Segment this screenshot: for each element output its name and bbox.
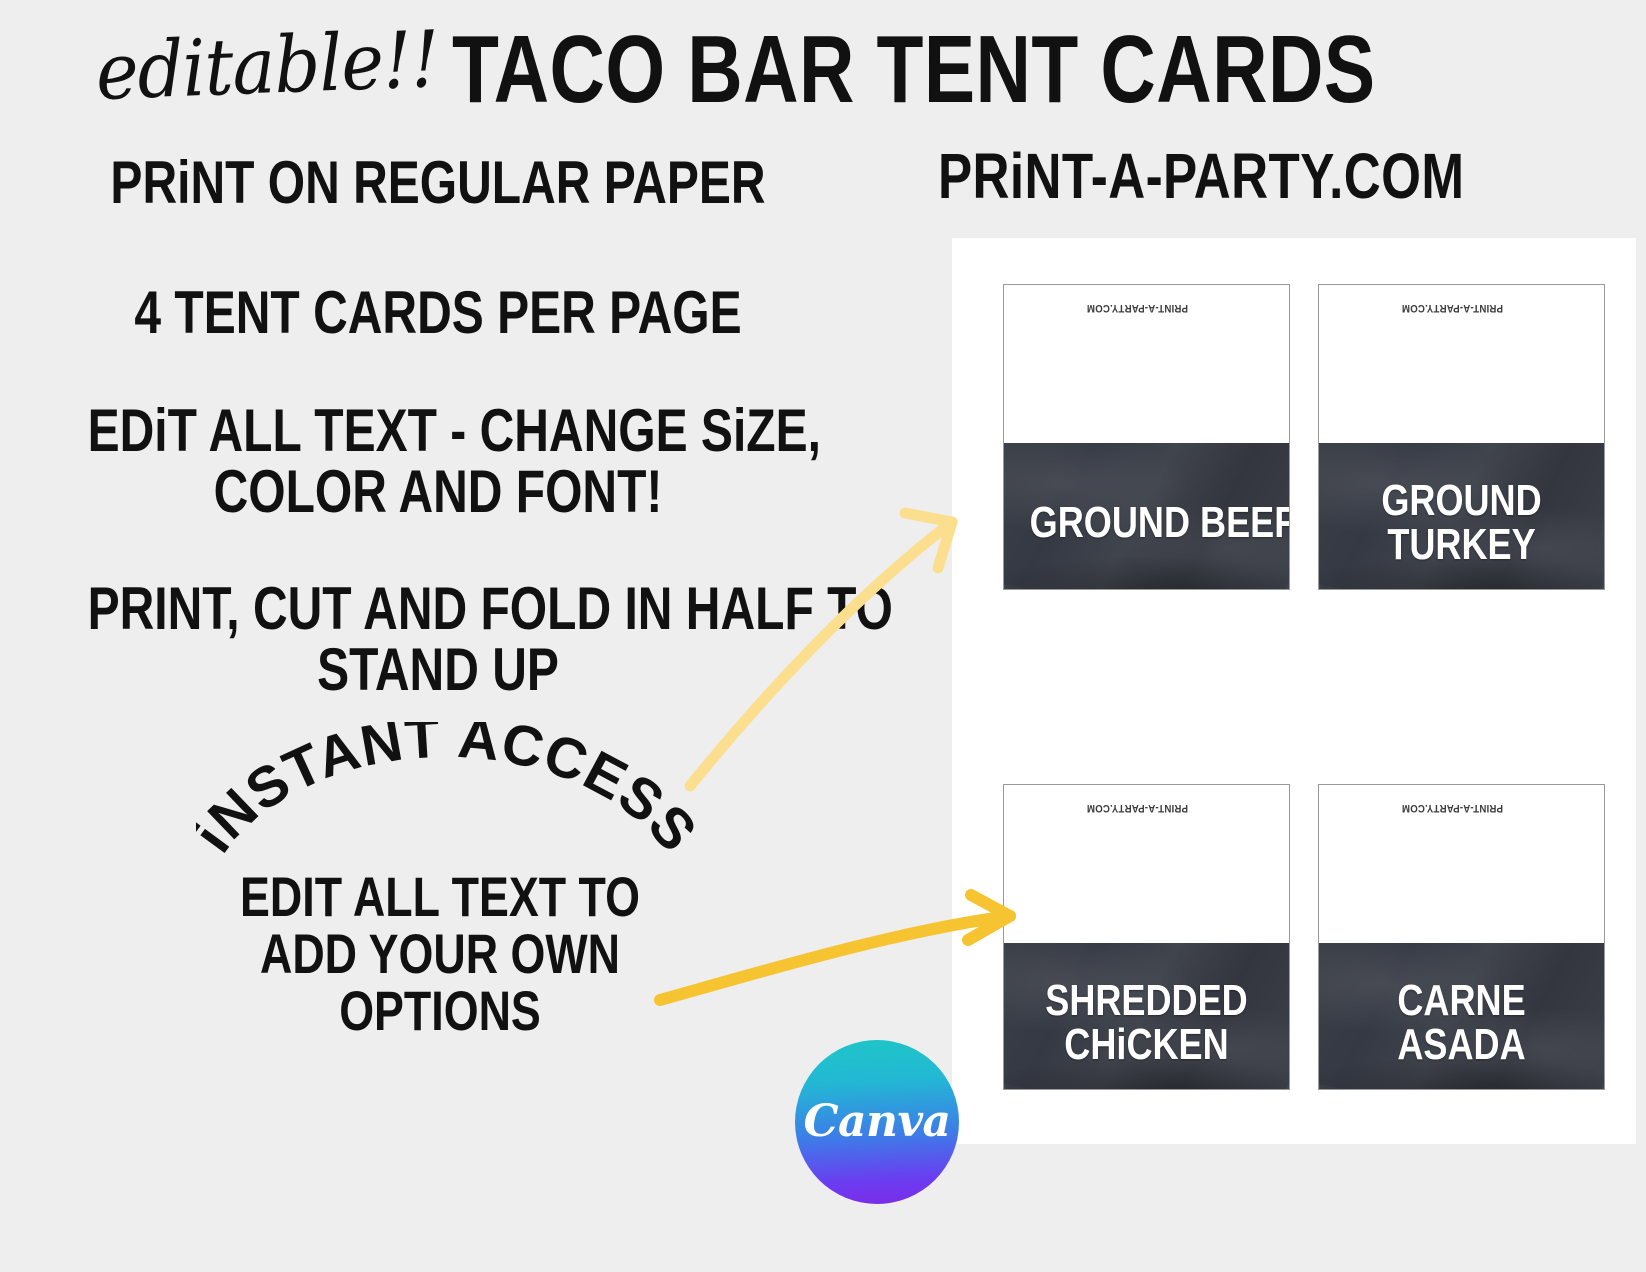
tent-card-ground-beef: PRINT-A-PARTY.COM GROUND BEEF [1003,284,1290,590]
poster-canvas: editable!! TACO BAR TENT CARDS PRiNT-A-P… [0,0,1646,1272]
card-label-ground-turkey: GROUND TURKEY [1345,479,1579,567]
feature-print-on-regular-paper: PRiNT ON REGULAR PAPER [88,152,789,213]
subtext-line2: ADD YOUR OWN [200,925,680,982]
card-label-shredded-chicken: SHREDDED CHiCKEN [1030,979,1264,1067]
feature-print-cut-fold-line2: STAND UP [88,639,789,700]
card-chalkboard-half: CARNE ASADA [1319,943,1604,1089]
card-watermark: PRINT-A-PARTY.COM [1020,799,1190,815]
card-fold-top-half: PRINT-A-PARTY.COM [1004,785,1289,943]
card-watermark: PRINT-A-PARTY.COM [1020,299,1190,315]
feature-edit-all-text-line1: EDiT ALL TEXT - CHANGE SiZE, [88,400,789,461]
editable-tag: editable!! [95,15,440,118]
feature-cards-per-page: 4 TENT CARDS PER PAGE [88,282,789,343]
card-label-ground-beef: GROUND BEEF [1030,501,1264,545]
feature-print-cut-fold: PRINT, CUT AND FOLD IN HALF TO STAND UP [88,578,789,700]
card-fold-top-half: PRINT-A-PARTY.COM [1004,285,1289,443]
feature-print-cut-fold-line1: PRINT, CUT AND FOLD IN HALF TO [88,578,789,639]
card-label-carne-asada: CARNE ASADA [1345,979,1579,1067]
website-url: PRiNT-A-PARTY.COM [938,144,1464,208]
subtext-line3: OPTIONS [200,982,680,1039]
card-chalkboard-half: GROUND TURKEY [1319,443,1604,589]
card-chalkboard-half: GROUND BEEF [1004,443,1289,589]
card-watermark: PRINT-A-PARTY.COM [1335,299,1505,315]
tent-card-shredded-chicken: PRINT-A-PARTY.COM SHREDDED CHiCKEN [1003,784,1290,1090]
card-fold-top-half: PRINT-A-PARTY.COM [1319,785,1604,943]
card-watermark: PRINT-A-PARTY.COM [1335,799,1505,815]
feature-edit-all-text-line2: COLOR AND FONT! [88,461,789,522]
feature-add-your-own-options: EDIT ALL TEXT TO ADD YOUR OWN OPTIONS [200,868,680,1039]
curved-text-content: iNSTANT ACCESS [196,722,696,864]
tent-card-ground-turkey: PRINT-A-PARTY.COM GROUND TURKEY [1318,284,1605,590]
card-fold-top-half: PRINT-A-PARTY.COM [1319,285,1604,443]
tent-card-carne-asada: PRINT-A-PARTY.COM CARNE ASADA [1318,784,1605,1090]
subtext-line1: EDIT ALL TEXT TO [200,868,680,925]
curved-instant-access-text: iNSTANT ACCESS [196,722,696,882]
feature-edit-all-text: EDiT ALL TEXT - CHANGE SiZE, COLOR AND F… [88,400,789,522]
canva-badge-label: Canva [803,1096,950,1147]
card-chalkboard-half: SHREDDED CHiCKEN [1004,943,1289,1089]
canva-badge: Canva [795,1040,959,1204]
page-title: TACO BAR TENT CARDS [452,22,1375,118]
svg-text:iNSTANT ACCESS: iNSTANT ACCESS [196,722,696,864]
